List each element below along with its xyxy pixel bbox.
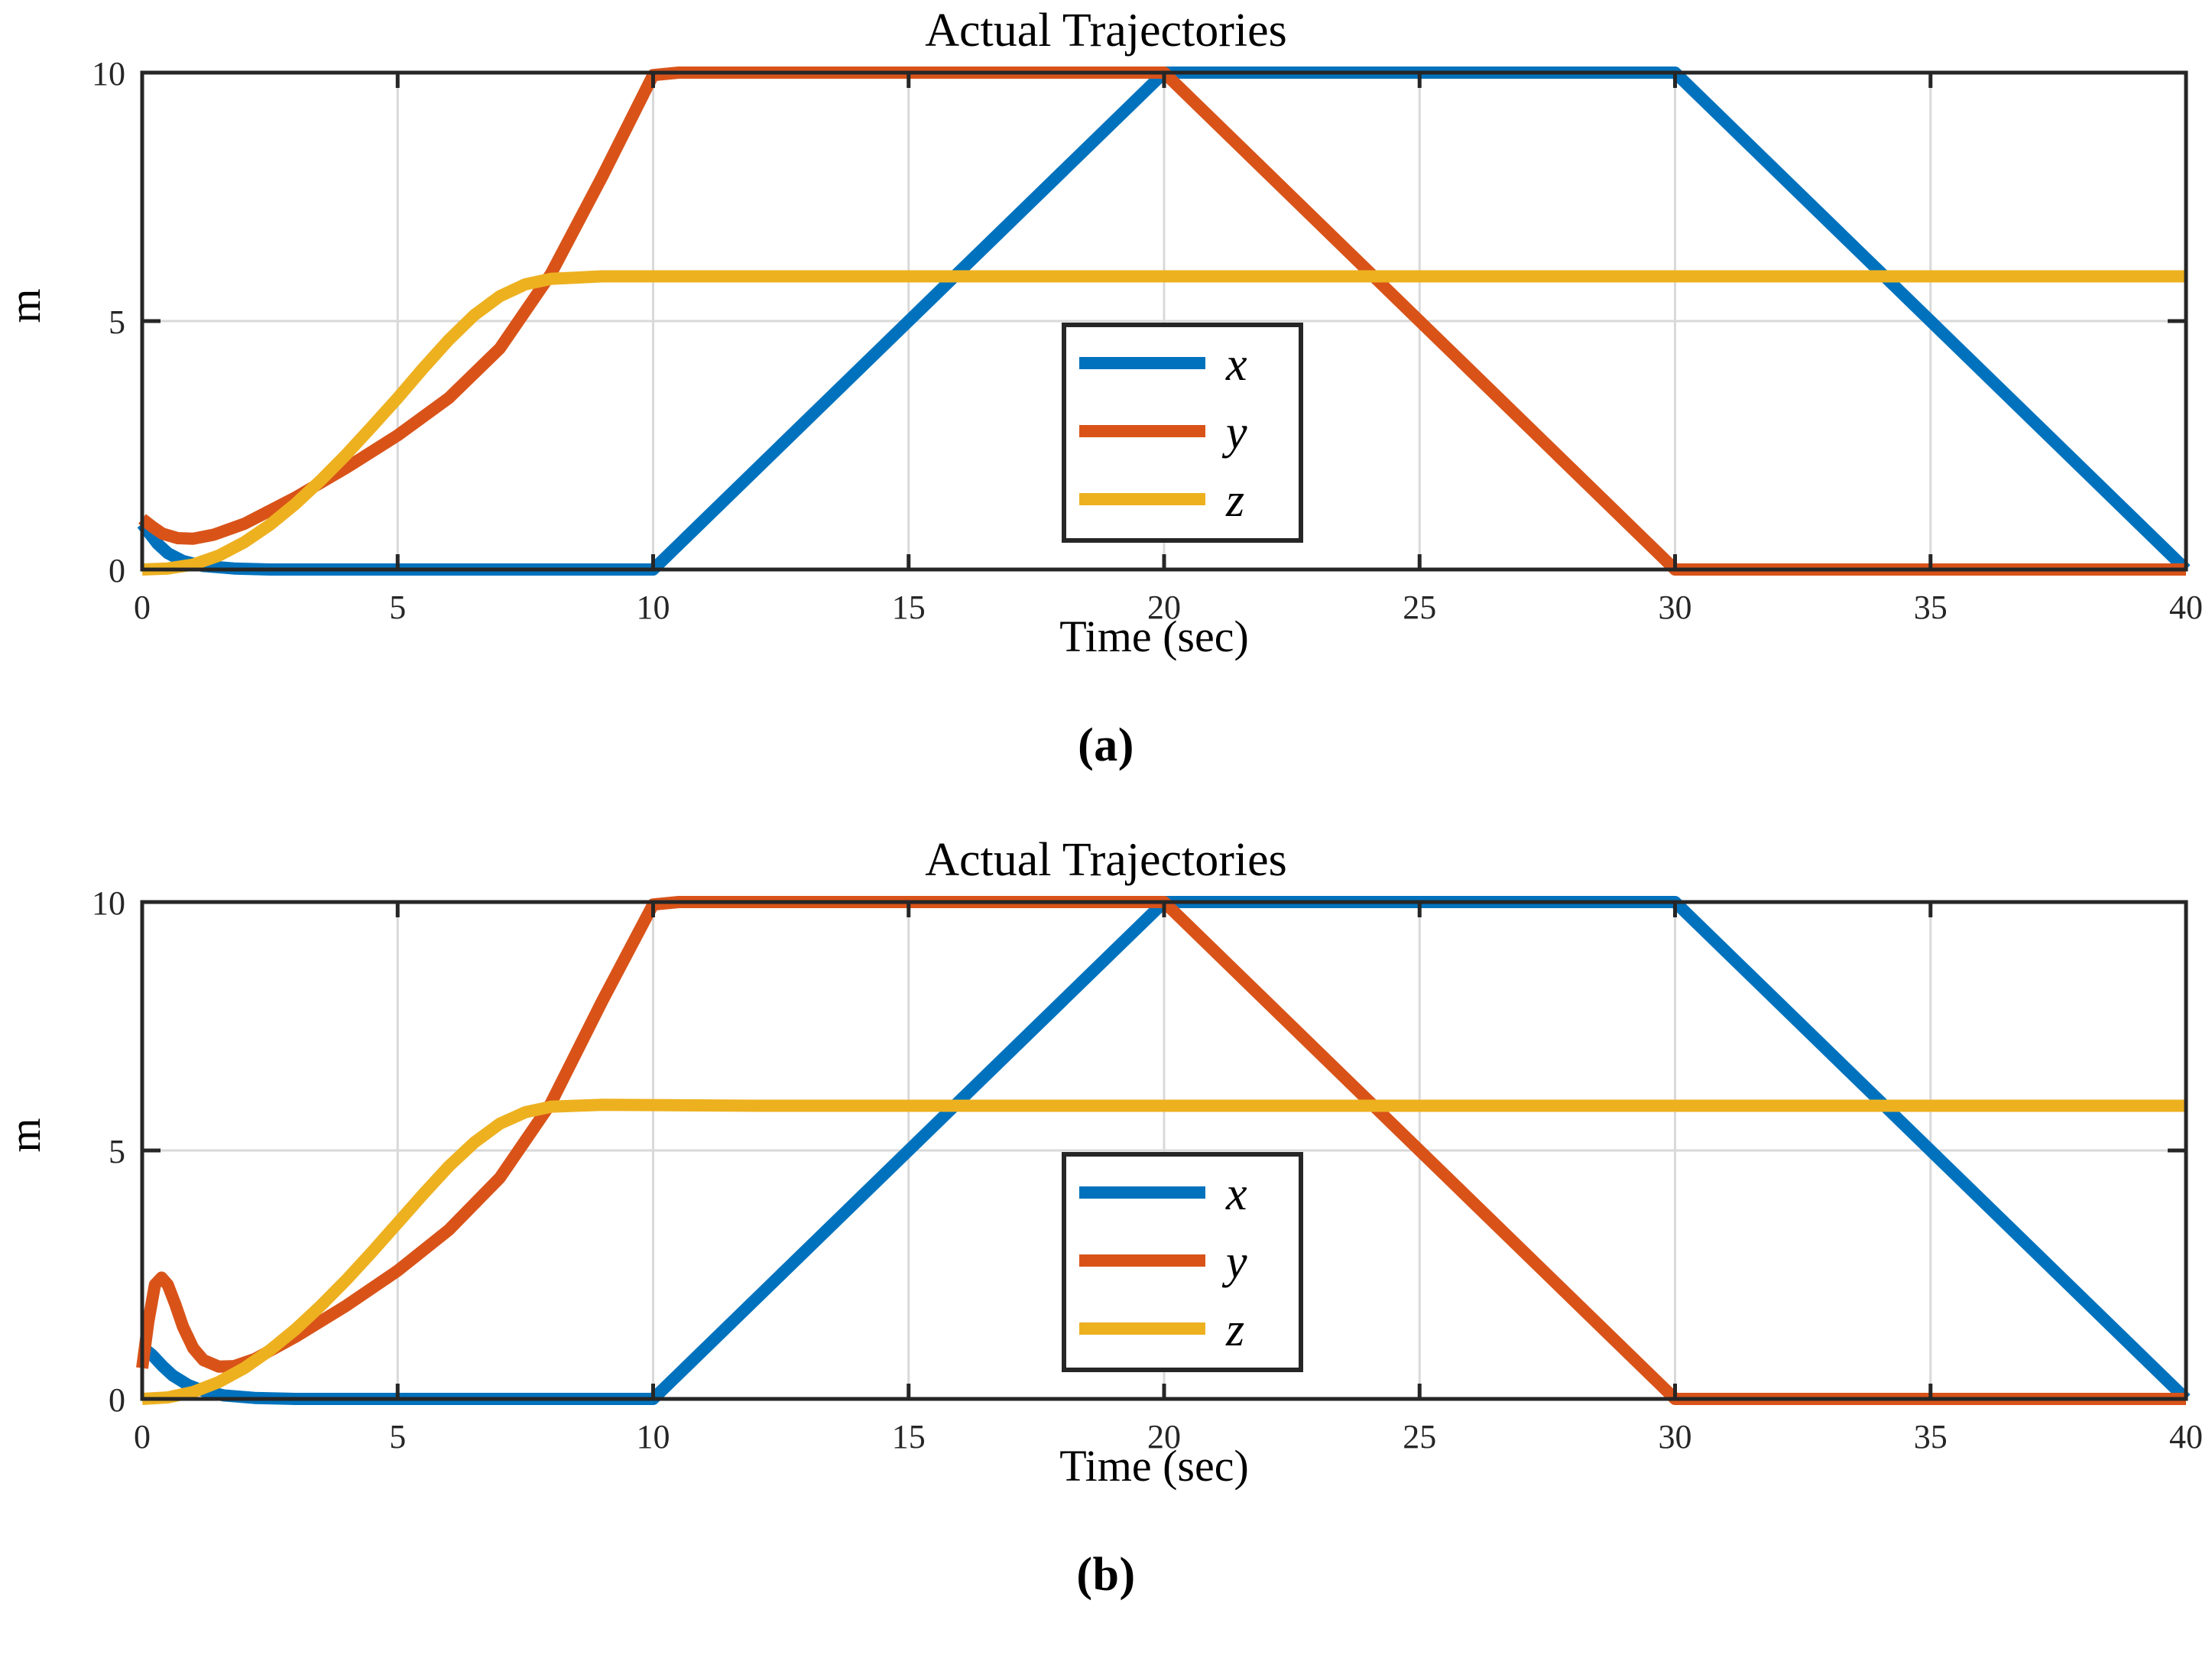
x-tick-label: 40 <box>2169 1418 2203 1455</box>
subcaption-a: (a) <box>0 719 2212 773</box>
subcaption-a-text: (a) <box>1078 719 1134 771</box>
legend-label-z[interactable]: z <box>1225 475 1244 527</box>
x-tick-label: 0 <box>134 1418 151 1455</box>
y-tick-label: 5 <box>109 303 125 341</box>
legend[interactable]: xyz <box>1064 325 1301 540</box>
plot-b-svg: Actual Trajectories m Time (sec) 0510152… <box>0 829 2212 1563</box>
x-tick-label: 35 <box>1914 1418 1948 1455</box>
x-tick-label: 5 <box>389 1418 406 1455</box>
x-tick-label: 30 <box>1659 589 1692 626</box>
legend-label-x[interactable]: x <box>1225 1168 1247 1220</box>
x-tick-label: 25 <box>1403 589 1436 626</box>
x-tick-label: 40 <box>2169 589 2203 626</box>
x-tick-label: 10 <box>637 589 670 626</box>
x-tick-label: 35 <box>1914 589 1948 626</box>
plot-a-svg: Actual Trajectories m Time (sec) 0510152… <box>0 0 2212 734</box>
x-tick-label: 10 <box>637 1418 670 1455</box>
subcaption-b: (b) <box>0 1548 2212 1602</box>
chart-panel-a: Actual Trajectories m Time (sec) 0510152… <box>0 0 2212 826</box>
x-tick-label: 30 <box>1659 1418 1692 1455</box>
legend-label-y[interactable]: y <box>1221 1236 1247 1288</box>
x-tick-label: 15 <box>892 1418 926 1455</box>
legend-label-y[interactable]: y <box>1221 407 1247 459</box>
x-tick-label: 25 <box>1403 1418 1436 1455</box>
x-tick-label: 5 <box>389 589 406 626</box>
x-tick-label: 15 <box>892 589 926 626</box>
legend-label-x[interactable]: x <box>1225 339 1247 391</box>
legend[interactable]: xyz <box>1064 1154 1301 1370</box>
legend-label-z[interactable]: z <box>1225 1304 1244 1356</box>
figure-page: Actual Trajectories m Time (sec) 0510152… <box>0 0 2212 1655</box>
y-axis-label: m <box>0 288 50 323</box>
y-tick-label: 0 <box>109 1381 125 1419</box>
x-tick-label: 0 <box>134 589 151 626</box>
chart-panel-b: Actual Trajectories m Time (sec) 0510152… <box>0 829 2212 1655</box>
chart-title: Actual Trajectories <box>925 834 1287 886</box>
y-tick-label: 5 <box>109 1133 125 1170</box>
chart-title: Actual Trajectories <box>925 5 1287 57</box>
subcaption-b-text: (b) <box>1076 1549 1135 1601</box>
x-tick-label: 20 <box>1147 1418 1181 1455</box>
y-tick-label: 10 <box>92 55 125 92</box>
y-tick-label: 0 <box>109 552 125 589</box>
x-tick-label: 20 <box>1147 589 1181 626</box>
y-axis-label: m <box>0 1118 50 1152</box>
y-tick-label: 10 <box>92 884 125 922</box>
